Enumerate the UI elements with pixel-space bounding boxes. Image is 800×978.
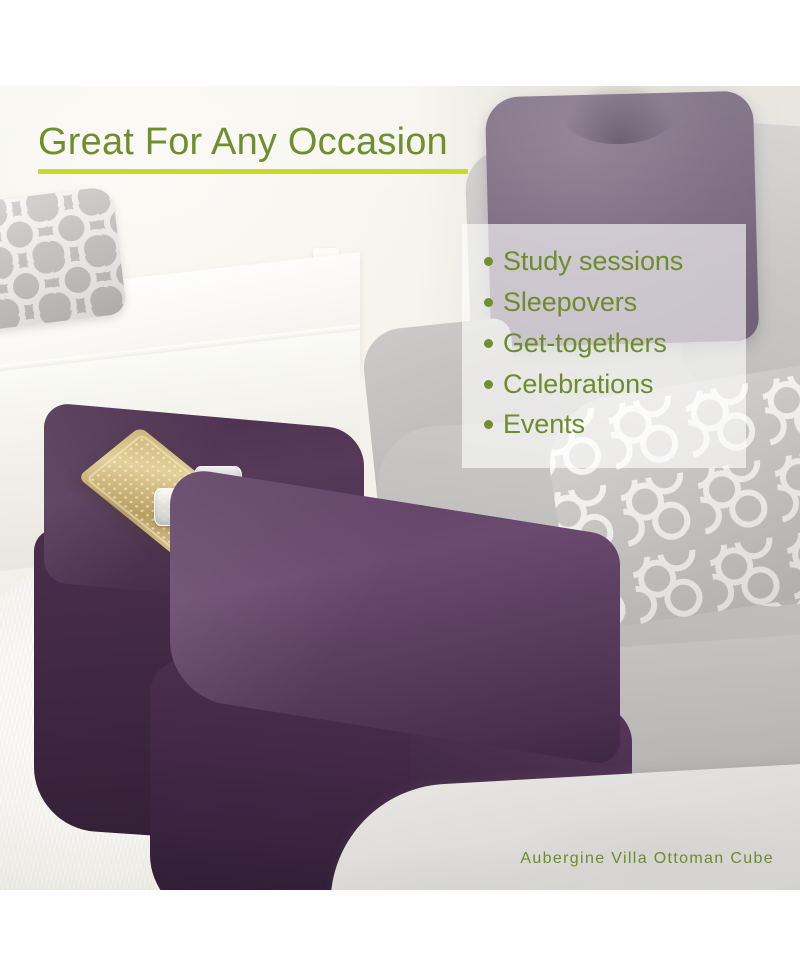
bullet-dot-icon [484,257,493,266]
benefits-list: Study sessions Sleepovers Get-togethers … [484,246,736,441]
bullet-dot-icon [484,298,493,307]
product-lifestyle-image: Great For Any Occasion Study sessions Sl… [0,0,800,978]
list-item-label: Get-togethers [503,328,667,360]
top-white-band [0,0,800,86]
list-item: Sleepovers [484,287,736,319]
list-item: Events [484,409,736,441]
product-caption: Aubergine Villa Ottoman Cube [520,850,774,868]
headline: Great For Any Occasion [38,122,468,174]
bottom-white-band [0,890,800,978]
patterned-pillow-left [0,186,127,334]
room-photo [0,86,800,890]
list-item-label: Sleepovers [503,287,637,319]
headline-text: Great For Any Occasion [38,122,468,162]
bullet-dot-icon [484,380,493,389]
list-item: Celebrations [484,369,736,401]
headline-underline [38,169,468,174]
list-item-label: Celebrations [503,369,653,401]
bullet-dot-icon [484,420,493,429]
pillow-shading [0,186,127,334]
benefits-panel: Study sessions Sleepovers Get-togethers … [462,224,746,468]
list-item: Get-togethers [484,328,736,360]
list-item: Study sessions [484,246,736,278]
bullet-dot-icon [484,339,493,348]
list-item-label: Events [503,409,585,441]
list-item-label: Study sessions [503,246,683,278]
